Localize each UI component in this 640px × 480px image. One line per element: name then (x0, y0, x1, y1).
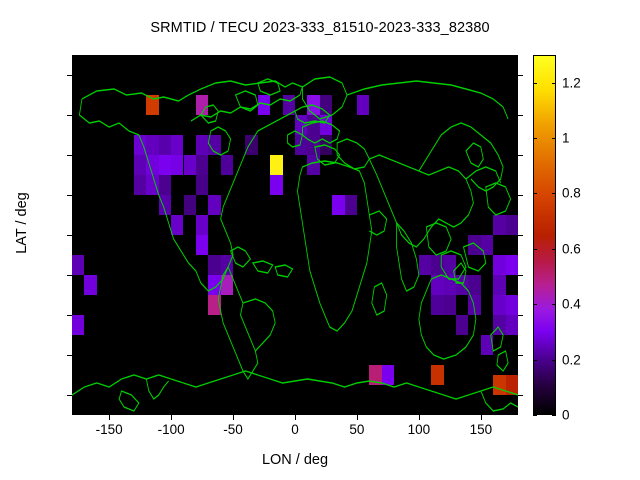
x-axis-tick-top (357, 55, 358, 60)
y-axis-tick-right (518, 75, 523, 76)
colorbar-tick (533, 360, 537, 361)
colorbar-tick-label: 1 (562, 131, 570, 146)
coastline-overlay (72, 55, 518, 415)
y-axis-tick-right (518, 275, 523, 276)
x-axis-tick (357, 415, 358, 420)
y-axis-tick-right (518, 355, 523, 356)
x-axis-tick-top (171, 55, 172, 60)
y-axis-tick-right (518, 155, 523, 156)
colorbar-tick (552, 360, 556, 361)
x-axis-tick (419, 415, 420, 420)
y-axis-title: LAT / deg (14, 148, 30, 298)
y-axis-tick (67, 275, 72, 276)
y-axis-tick-right (518, 235, 523, 236)
y-axis-tick-right (518, 315, 523, 316)
colorbar-tick (552, 83, 556, 84)
x-axis-tick-label: 50 (349, 422, 364, 437)
colorbar-tick-label: 0.8 (562, 186, 581, 201)
y-axis-tick (67, 75, 72, 76)
x-axis-tick-label: -50 (223, 422, 243, 437)
y-axis-tick (67, 195, 72, 196)
colorbar-tick-label: 1.2 (562, 75, 581, 90)
colorbar[interactable] (533, 55, 556, 415)
colorbar-tick (552, 415, 556, 416)
colorbar-tick (552, 193, 556, 194)
x-axis-tick (109, 415, 110, 420)
plot-figure: SRMTID / TECU 2023-333_81510-2023-333_82… (0, 0, 640, 480)
x-axis-tick-label: -100 (158, 422, 185, 437)
colorbar-tick (533, 83, 537, 84)
x-axis-tick (171, 415, 172, 420)
x-axis-tick (295, 415, 296, 420)
colorbar-tick (533, 304, 537, 305)
map-plot-area[interactable] (72, 55, 518, 415)
x-axis-tick (481, 415, 482, 420)
y-axis-tick-right (518, 395, 523, 396)
y-axis-tick (67, 235, 72, 236)
y-axis-tick (67, 315, 72, 316)
colorbar-tick (552, 304, 556, 305)
x-axis-tick (233, 415, 234, 420)
x-axis-tick-top (295, 55, 296, 60)
y-axis-tick (67, 155, 72, 156)
colorbar-tick (533, 249, 537, 250)
colorbar-tick (552, 138, 556, 139)
x-axis-tick-label: 0 (291, 422, 299, 437)
y-axis-tick (67, 395, 72, 396)
y-axis-tick-right (518, 115, 523, 116)
colorbar-tick-label: 0.2 (562, 352, 581, 367)
colorbar-tick (533, 138, 537, 139)
x-axis-tick-label: 150 (470, 422, 493, 437)
y-axis-tick (67, 355, 72, 356)
x-axis-title: LON / deg (72, 452, 518, 468)
x-axis-tick-top (233, 55, 234, 60)
colorbar-tick-label: 0.4 (562, 297, 581, 312)
colorbar-tick (552, 249, 556, 250)
page-title: SRMTID / TECU 2023-333_81510-2023-333_82… (0, 20, 640, 36)
x-axis-tick-top (481, 55, 482, 60)
colorbar-tick (533, 415, 537, 416)
x-axis-tick-label: 100 (408, 422, 431, 437)
x-axis-tick-label: -150 (96, 422, 123, 437)
colorbar-tick (533, 193, 537, 194)
y-axis-tick-right (518, 195, 523, 196)
colorbar-tick-label: 0.6 (562, 241, 581, 256)
colorbar-tick-label: 0 (562, 408, 570, 423)
y-axis-tick (67, 115, 72, 116)
x-axis-tick-top (109, 55, 110, 60)
x-axis-tick-top (419, 55, 420, 60)
